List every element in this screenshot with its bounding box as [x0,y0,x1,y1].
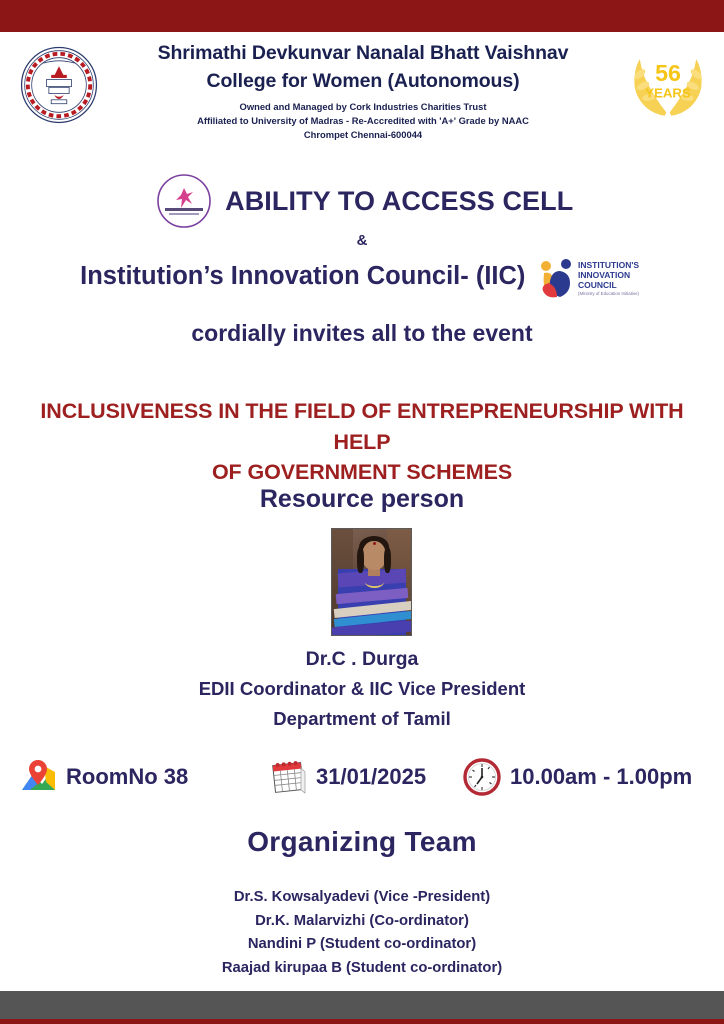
list-item: Raajad kirupaa B (Student co-ordinator) [0,957,724,981]
list-item: Dr.K. Malarvizhi (Co-ordinator) [0,910,724,934]
event-date: 31/01/2025 [268,752,426,802]
resource-person-heading: Resource person [0,485,724,514]
event-title-line-2: OF GOVERNMENT SCHEMES [18,457,706,488]
clock-icon [462,756,502,798]
svg-text:INSTITUTION'S: INSTITUTION'S [578,260,639,270]
event-invitation-poster: Shrimathi Devkunvar Nanalal Bhatt Vaishn… [0,0,724,1024]
bottom-accent-bar [0,1019,724,1024]
college-trust-line: Owned and Managed by Cork Industries Cha… [108,100,618,114]
resource-person-photo [331,528,412,636]
iic-title: Institution’s Innovation Council- (IIC) [80,262,525,291]
institutions-innovation-council-logo-icon: INSTITUTION'S INNOVATION COUNCIL (Minist… [536,257,644,299]
ability-to-access-cell-logo-icon [151,170,217,232]
svg-text:(Ministry of Education Initiat: (Ministry of Education Initiative) [578,291,640,296]
event-time-text: 10.00am - 1.00pm [510,764,692,790]
event-date-text: 31/01/2025 [316,764,426,790]
college-identity-block: Shrimathi Devkunvar Nanalal Bhatt Vaishn… [108,40,618,142]
ampersand-separator: & [0,232,724,249]
event-venue: RoomNo 38 [18,752,188,802]
college-seal-icon [20,46,98,124]
list-item: Dr.S. Kowsalyadevi (Vice -President) [0,886,724,910]
list-item: Nandini P (Student co-ordinator) [0,933,724,957]
organizing-team-list: Dr.S. Kowsalyadevi (Vice -President) Dr.… [0,886,724,981]
resource-person-department: Department of Tamil [0,708,724,730]
ability-to-access-cell-row: ABILITY TO ACCESS CELL [0,170,724,232]
event-time: 10.00am - 1.00pm [462,752,692,802]
event-logistics-row: RoomNo 38 [0,752,724,802]
college-address-line: Chrompet Chennai-600044 [108,128,618,142]
college-name-line-2: College for Women (Autonomous) [108,68,618,96]
event-venue-text: RoomNo 38 [66,764,188,790]
resource-person-role: EDII Coordinator & IIC Vice President [0,678,724,700]
college-name-line-1: Shrimathi Devkunvar Nanalal Bhatt Vaishn… [108,40,618,68]
poster-header: Shrimathi Devkunvar Nanalal Bhatt Vaishn… [0,36,724,156]
top-decorative-bar [0,0,724,32]
laurel-wreath-icon: 56 YEARS [626,46,710,124]
map-pin-icon [18,756,58,798]
calendar-icon [268,756,308,798]
invitation-line: cordially invites all to the event [0,320,724,347]
ability-to-access-cell-title: ABILITY TO ACCESS CELL [225,186,573,217]
resource-person-name: Dr.C . Durga [0,648,724,671]
anniversary-label-text: YEARS [645,85,691,100]
iic-title-row: Institution’s Innovation Council- (IIC) … [0,255,724,297]
anniversary-number-text: 56 [655,60,681,86]
organizing-team-heading: Organizing Team [0,826,724,858]
event-title: INCLUSIVENESS IN THE FIELD OF ENTREPRENE… [18,396,706,488]
svg-text:INNOVATION: INNOVATION [578,270,630,280]
event-title-line-1: INCLUSIVENESS IN THE FIELD OF ENTREPRENE… [18,396,706,457]
college-affiliation-line: Affiliated to University of Madras - Re-… [108,114,618,128]
svg-text:COUNCIL: COUNCIL [578,280,617,290]
